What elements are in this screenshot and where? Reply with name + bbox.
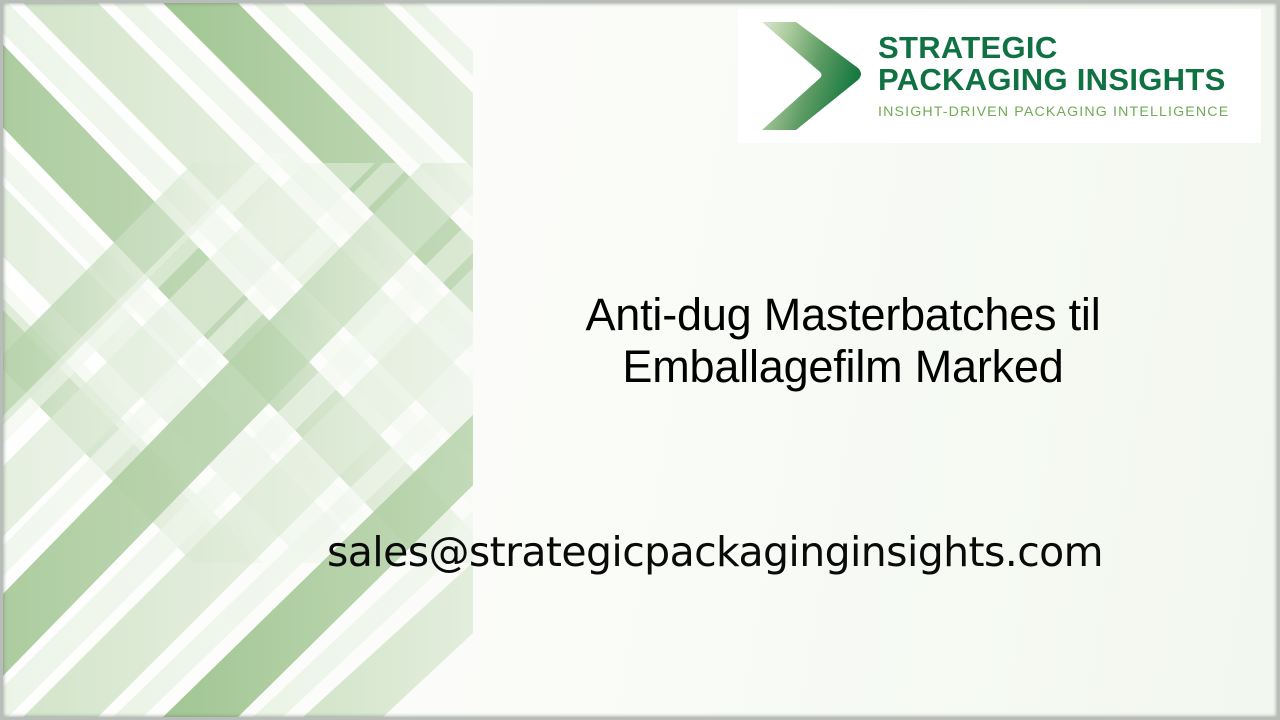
contact-email[interactable]: sales@strategicpackaginginsights.com: [185, 527, 1245, 577]
brand-name-line1: STRATEGIC: [878, 32, 1229, 64]
brand-name-line2: PACKAGING INSIGHTS: [878, 64, 1229, 96]
brand-logo: STRATEGIC PACKAGING INSIGHTS INSIGHT-DRI…: [738, 9, 1261, 143]
brand-tagline: INSIGHT-DRIVEN PACKAGING INTELLIGENCE: [878, 104, 1229, 120]
page-title-line1: Anti-dug Masterbatches til: [433, 289, 1253, 341]
chevron-logo-mark-icon: [752, 16, 870, 136]
page-title: Anti-dug Masterbatches til Emballagefilm…: [433, 289, 1253, 393]
diagonal-chevron-stripes-decoration: [3, 3, 473, 717]
title-slide: STRATEGIC PACKAGING INSIGHTS INSIGHT-DRI…: [0, 0, 1280, 720]
page-title-line2: Emballagefilm Marked: [433, 341, 1253, 393]
brand-logo-text: STRATEGIC PACKAGING INSIGHTS INSIGHT-DRI…: [878, 32, 1229, 120]
